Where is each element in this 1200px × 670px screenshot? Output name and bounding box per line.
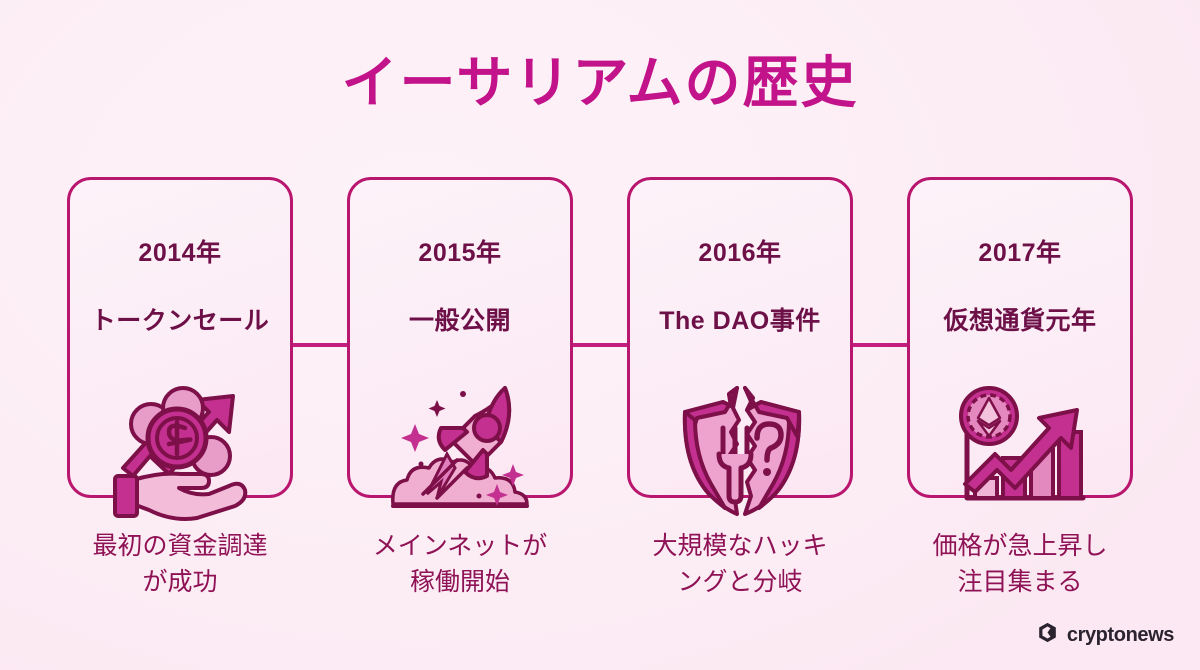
timeline-card-2017[interactable]: 2017年 仮想通貨元年: [907, 177, 1133, 498]
timeline-slot-2016: 2016年 The DAO事件: [627, 177, 853, 498]
rocket-launch-icon: [350, 372, 570, 532]
caption-2015: メインネットが 稼働開始: [347, 528, 573, 601]
card-heading-2014: 2014年 トークンセール: [91, 202, 270, 372]
card-label-2017: 仮想通貨元年: [943, 304, 1096, 338]
brand-logo[interactable]: cryptonews: [1037, 622, 1174, 648]
hand-coins-growth-icon: [70, 372, 290, 532]
caption-2014: 最初の資金調達 が成功: [67, 528, 293, 601]
card-year-2016: 2016年: [659, 236, 820, 270]
connector-2016-2017: [853, 343, 907, 347]
card-year-2017: 2017年: [943, 236, 1096, 270]
card-label-2014: トークンセール: [91, 304, 270, 338]
caption-2016: 大規模なハッキ ングと分岐: [627, 528, 853, 601]
ethereum-coin-bar-chart-icon: [910, 372, 1130, 532]
page-title: イーサリアムの歴史: [0, 52, 1200, 114]
card-heading-2015: 2015年 一般公開: [409, 202, 511, 372]
card-year-2015: 2015年: [409, 236, 511, 270]
timeline-card-2015[interactable]: 2015年 一般公開: [347, 177, 573, 498]
cracked-shield-fork-icon: [630, 372, 850, 532]
brand-name: cryptonews: [1067, 624, 1174, 647]
timeline-slot-2017: 2017年 仮想通貨元年: [907, 177, 1133, 498]
timeline-slot-2014: 2014年 トークンセール: [67, 177, 293, 498]
connector-2015-2016: [573, 343, 627, 347]
card-label-2016: The DAO事件: [659, 304, 820, 338]
timeline-card-2014[interactable]: 2014年 トークンセール: [67, 177, 293, 498]
timeline-cards: 2014年 トークンセール: [0, 177, 1200, 498]
cryptonews-logo-icon: [1037, 622, 1058, 648]
card-label-2015: 一般公開: [409, 304, 511, 338]
timeline-captions: 最初の資金調達 が成功 メインネットが 稼働開始 大規模なハッキ ングと分岐 価…: [0, 528, 1200, 601]
timeline-slot-2015: 2015年 一般公開: [347, 177, 573, 498]
connector-2014-2015: [293, 343, 347, 347]
card-heading-2016: 2016年 The DAO事件: [659, 202, 820, 372]
timeline-card-2016[interactable]: 2016年 The DAO事件: [627, 177, 853, 498]
card-year-2014: 2014年: [91, 236, 270, 270]
card-heading-2017: 2017年 仮想通貨元年: [943, 202, 1096, 372]
infographic-canvas: イーサリアムの歴史 2014年 トークンセール: [0, 0, 1200, 670]
caption-2017: 価格が急上昇し 注目集まる: [907, 528, 1133, 601]
